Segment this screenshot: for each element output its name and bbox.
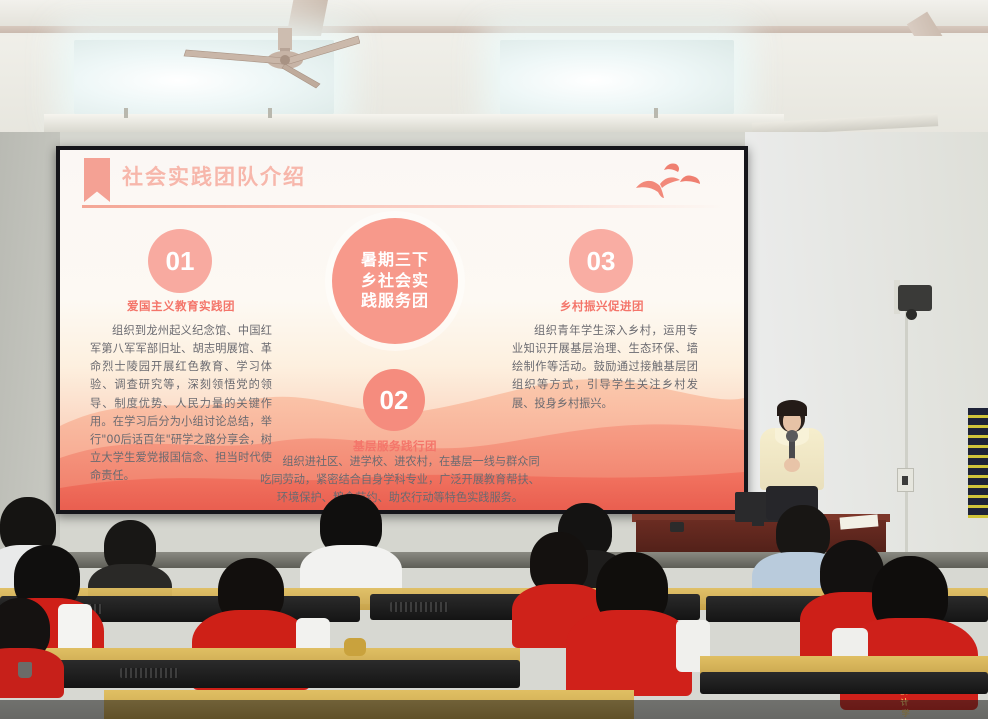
birds-icon [630,158,720,200]
screen-mount-rail [44,114,784,134]
wall-camera-icon [898,285,932,311]
screenshot-root: 社会实践团队介绍 暑期三下乡社会实践服务团 01 爱国主义教育实践团 组 [0,0,988,719]
item-heading-03: 乡村振兴促进团 [518,298,686,314]
item-body-02: 组织进社区、进学校、进农村，在基层一线与群众同吃同劳动，紧密结合自身学科专业，广… [256,453,544,507]
seat-back [700,672,988,694]
red-vest [0,648,64,698]
snack-item [344,638,366,656]
slide-title: 社会实践团队介绍 [122,161,306,191]
presenter-hand [784,458,800,472]
seat-vent [390,602,448,612]
microphone-head-icon [786,430,798,442]
ceiling-fan-icon [170,18,360,90]
wall-side-panel [968,408,988,518]
cup [18,662,32,678]
projection-screen-frame: 社会实践团队介绍 暑期三下乡社会实践服务团 01 爱国主义教育实践团 组 [56,146,748,514]
header-divider [82,205,722,208]
item-heading-01: 爱国主义教育实践团 [98,298,264,314]
number-circle-01: 01 [148,229,212,293]
seat-vent [120,668,178,678]
center-circle: 暑期三下乡社会实践服务团 [332,218,458,344]
red-vest [566,610,692,696]
projected-slide: 社会实践团队介绍 暑期三下乡社会实践服务团 01 爱国主义教育实践团 组 [60,150,744,510]
presenter-hair [777,400,807,416]
lecture-hall: 社会实践团队介绍 暑期三下乡社会实践服务团 01 爱国主义教育实践团 组 [0,0,988,719]
ribbon-bookmark-icon [84,158,110,202]
item-heading-02: 基层服务践行团 [300,438,490,454]
number-circle-02: 02 [363,369,425,431]
item-body-01: 组织到龙州起义纪念馆、中国红军第八军军部旧址、胡志明展馆、革命烈士陵园开展红色教… [90,322,272,485]
wall-conduit [905,295,908,575]
number-circle-03: 03 [569,229,633,293]
foreground-shadow [0,700,988,719]
monitor-stand [752,520,764,526]
rail-hook [124,108,128,118]
desk-device [670,522,684,532]
rail-hook [268,108,272,118]
wall-switch[interactable] [897,468,914,492]
item-body-03: 组织青年学生深入乡村，运用专业知识开展基层治理、生态环保、墙绘制作等活动。鼓励通… [512,322,698,413]
seat-back [0,660,520,688]
fluorescent-light-right [500,40,734,114]
center-circle-label: 暑期三下乡社会实践服务团 [361,250,429,311]
rail-hook [654,108,658,118]
